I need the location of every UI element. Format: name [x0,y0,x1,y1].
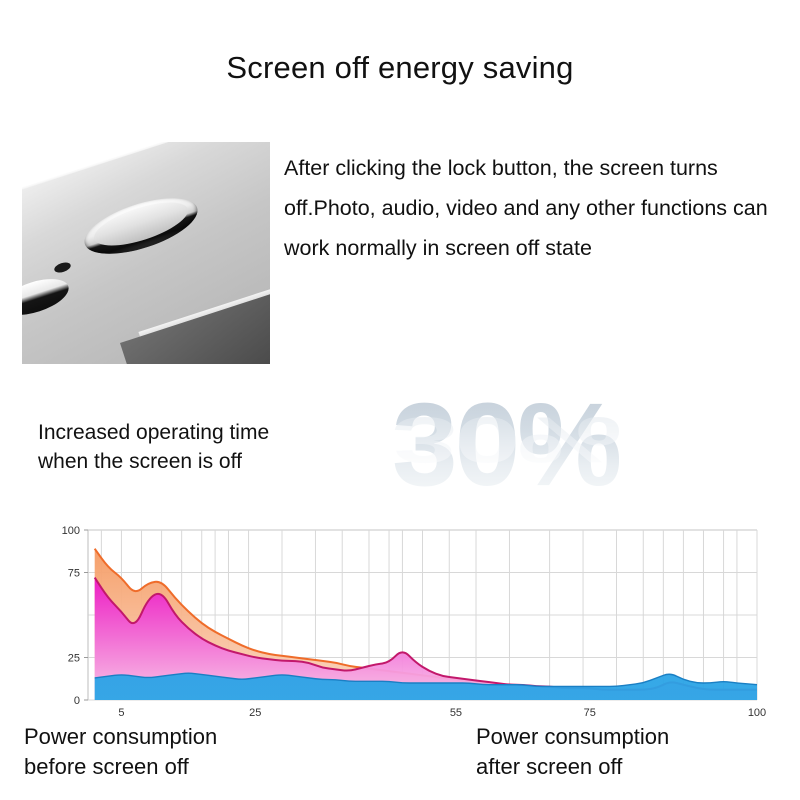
label-after-screen-off: Power consumption after screen off [476,722,800,782]
description-paragraph: After clicking the lock button, the scre… [284,148,784,268]
label-before-line-1: Power consumption [24,722,354,752]
x-tick-label: 55 [450,707,462,719]
label-before-line-2: before screen off [24,752,354,782]
x-tick-label: 5 [118,707,124,719]
chart-caption-line-2: when the screen is off [38,447,398,476]
y-tick-label: 100 [62,525,80,537]
label-after-line-2: after screen off [476,752,800,782]
chart-svg: 025751005255575100 [0,515,800,720]
y-tick-label: 0 [74,695,80,707]
y-tick-label: 25 [68,653,80,665]
lock-button-photo [22,142,270,364]
y-tick-label: 75 [68,568,80,580]
power-consumption-area-chart: 025751005255575100 [0,515,800,720]
infographic-page: Screen off energy saving After clicking … [0,0,800,800]
x-tick-label: 100 [748,707,766,719]
page-title: Screen off energy saving [0,50,800,86]
chart-caption-line-1: Increased operating time [38,418,398,447]
percent-watermark-reflection: 30% [392,407,619,472]
x-tick-label: 25 [249,707,261,719]
x-tick-label: 75 [584,707,596,719]
label-before-screen-off: Power consumption before screen off [24,722,354,782]
label-after-line-1: Power consumption [476,722,800,752]
chart-caption: Increased operating time when the screen… [38,418,398,476]
